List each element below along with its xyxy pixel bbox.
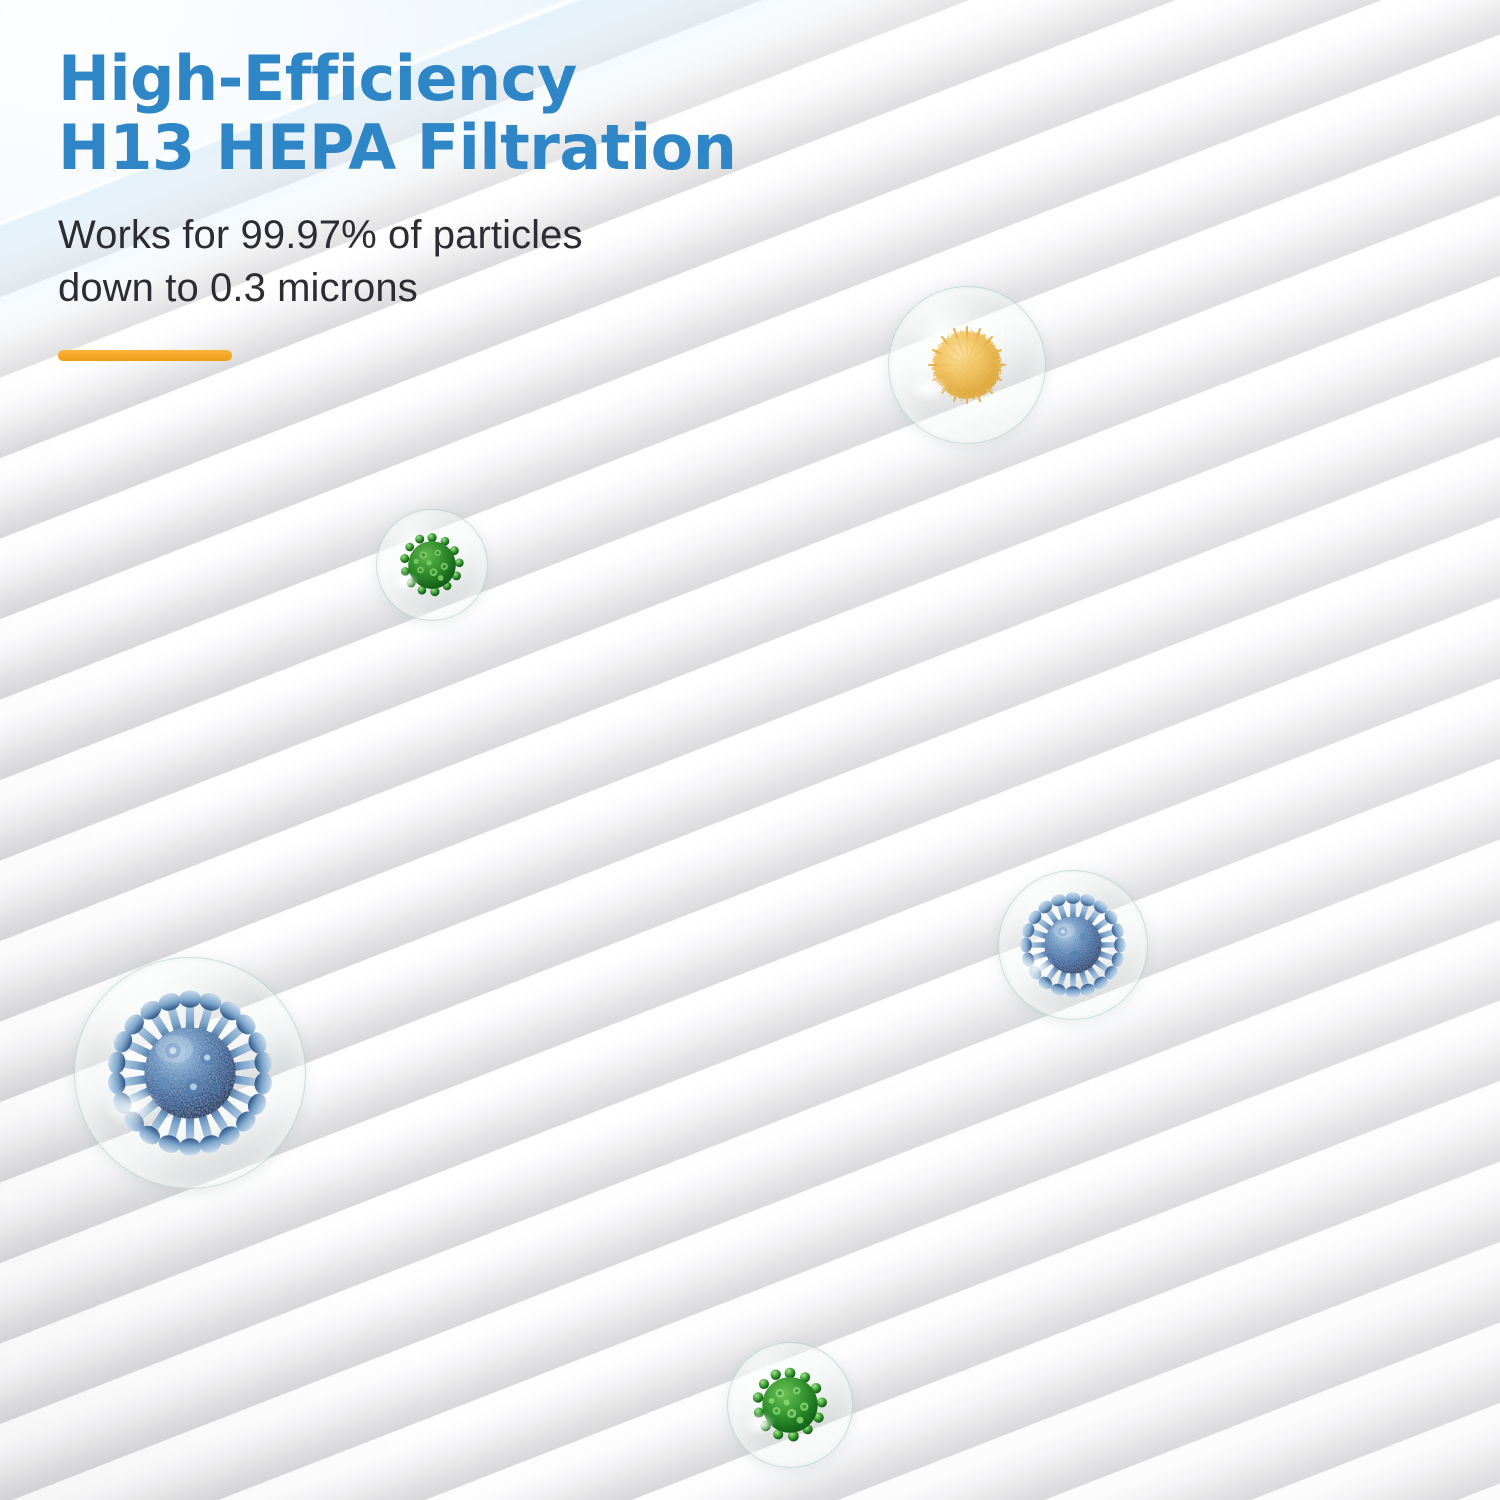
green-virus-icon xyxy=(748,1363,832,1447)
headline-block: High-Efficiency H13 HEPA Filtration Work… xyxy=(58,44,978,361)
particle-bubble-blue-virus-small xyxy=(998,870,1148,1020)
subtitle: Works for 99.97% of particles down to 0.… xyxy=(58,209,978,315)
page-title: High-Efficiency H13 HEPA Filtration xyxy=(58,44,978,183)
particle-bubble-blue-virus-large xyxy=(74,957,306,1189)
particle-bubble-green-virus-1 xyxy=(376,509,488,621)
product-feature-banner: High-Efficiency H13 HEPA Filtration Work… xyxy=(0,0,1500,1500)
blue-virus-icon xyxy=(1017,889,1129,1001)
pollen-icon xyxy=(917,315,1017,415)
green-virus-icon xyxy=(396,529,468,601)
orange-divider xyxy=(58,350,232,361)
blue-virus-icon xyxy=(104,987,276,1159)
particle-bubble-pollen xyxy=(888,286,1046,444)
particle-bubble-green-virus-2 xyxy=(727,1342,853,1468)
